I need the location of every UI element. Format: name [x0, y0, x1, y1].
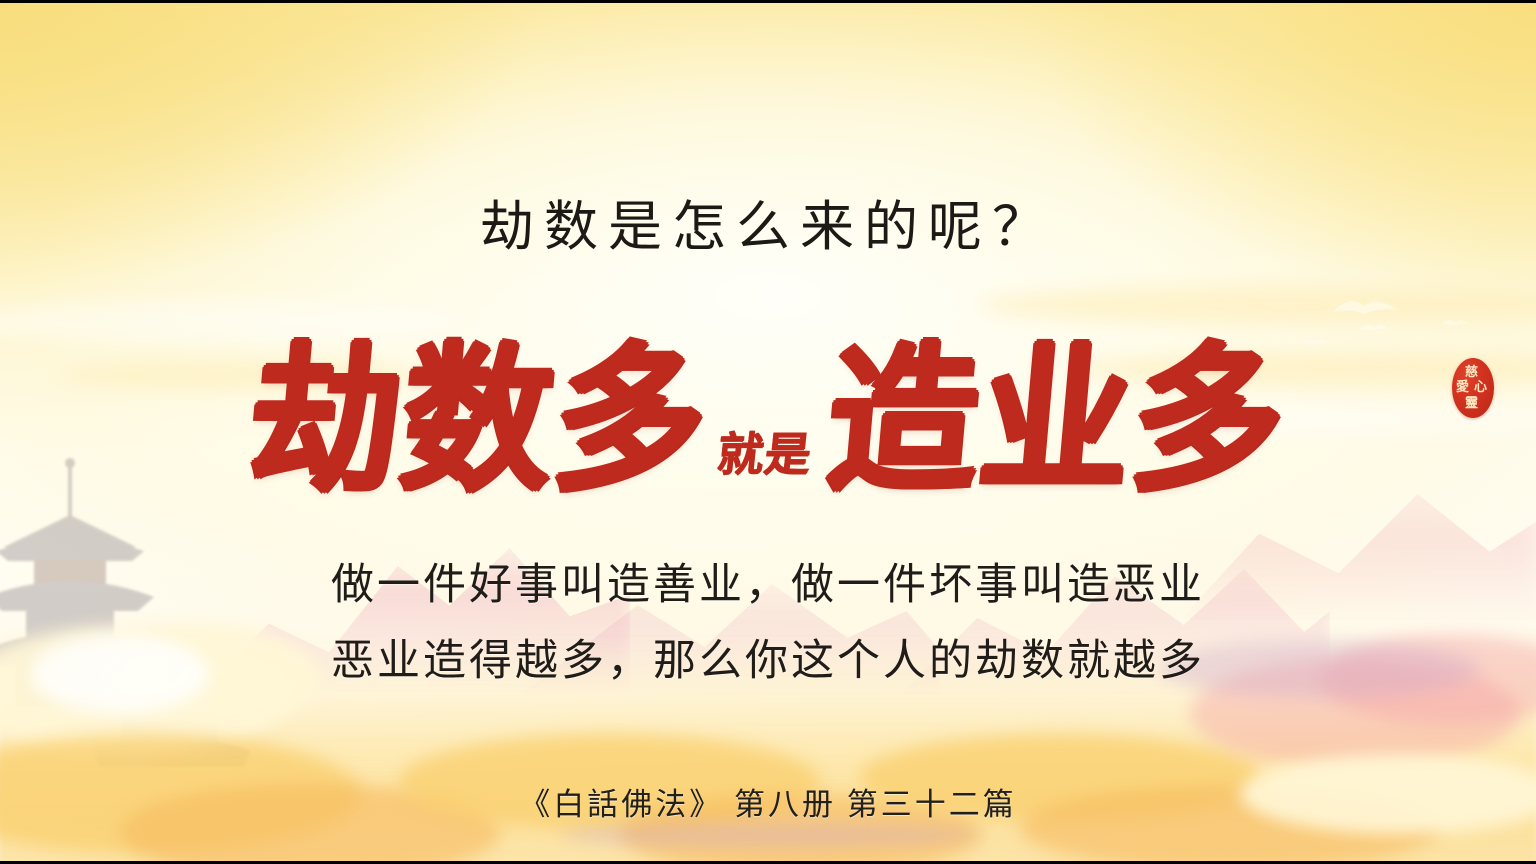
headline-right: 造业多 [822, 341, 1292, 500]
headline: 劫数多 就是 造业多 [0, 330, 1536, 510]
seal-char: 靈 [1465, 396, 1478, 409]
body-line: 做一件好事叫造善业，做一件坏事叫造恶业 [0, 548, 1536, 624]
seal-characters: 慈 愛 心 靈 [1452, 358, 1494, 418]
headline-connector: 就是 [715, 431, 814, 477]
poster-canvas: 劫数是怎么来的呢？ 劫数多 就是 造业多 做一件好事叫造善业，做一件坏事叫造恶业… [0, 0, 1536, 864]
flying-crane-icon [1440, 316, 1470, 331]
body-line: 恶业造得越多，那么你这个人的劫数就越多 [0, 624, 1536, 700]
red-seal-stamp: 慈 愛 心 靈 [1452, 358, 1494, 418]
source-citation: 《白話佛法》 第八册 第三十二篇 [0, 779, 1536, 824]
cloud-puff [560, 822, 980, 848]
seal-char: 心 [1474, 380, 1487, 393]
page-subtitle-question: 劫数是怎么来的呢？ [0, 182, 1536, 261]
body-text: 做一件好事叫造善业，做一件坏事叫造恶业 恶业造得越多，那么你这个人的劫数就越多 [0, 548, 1536, 700]
seal-char: 愛 [1456, 380, 1469, 393]
seal-char: 慈 [1465, 365, 1478, 378]
letterbox-top [0, 0, 1536, 3]
headline-left: 劫数多 [244, 341, 714, 500]
